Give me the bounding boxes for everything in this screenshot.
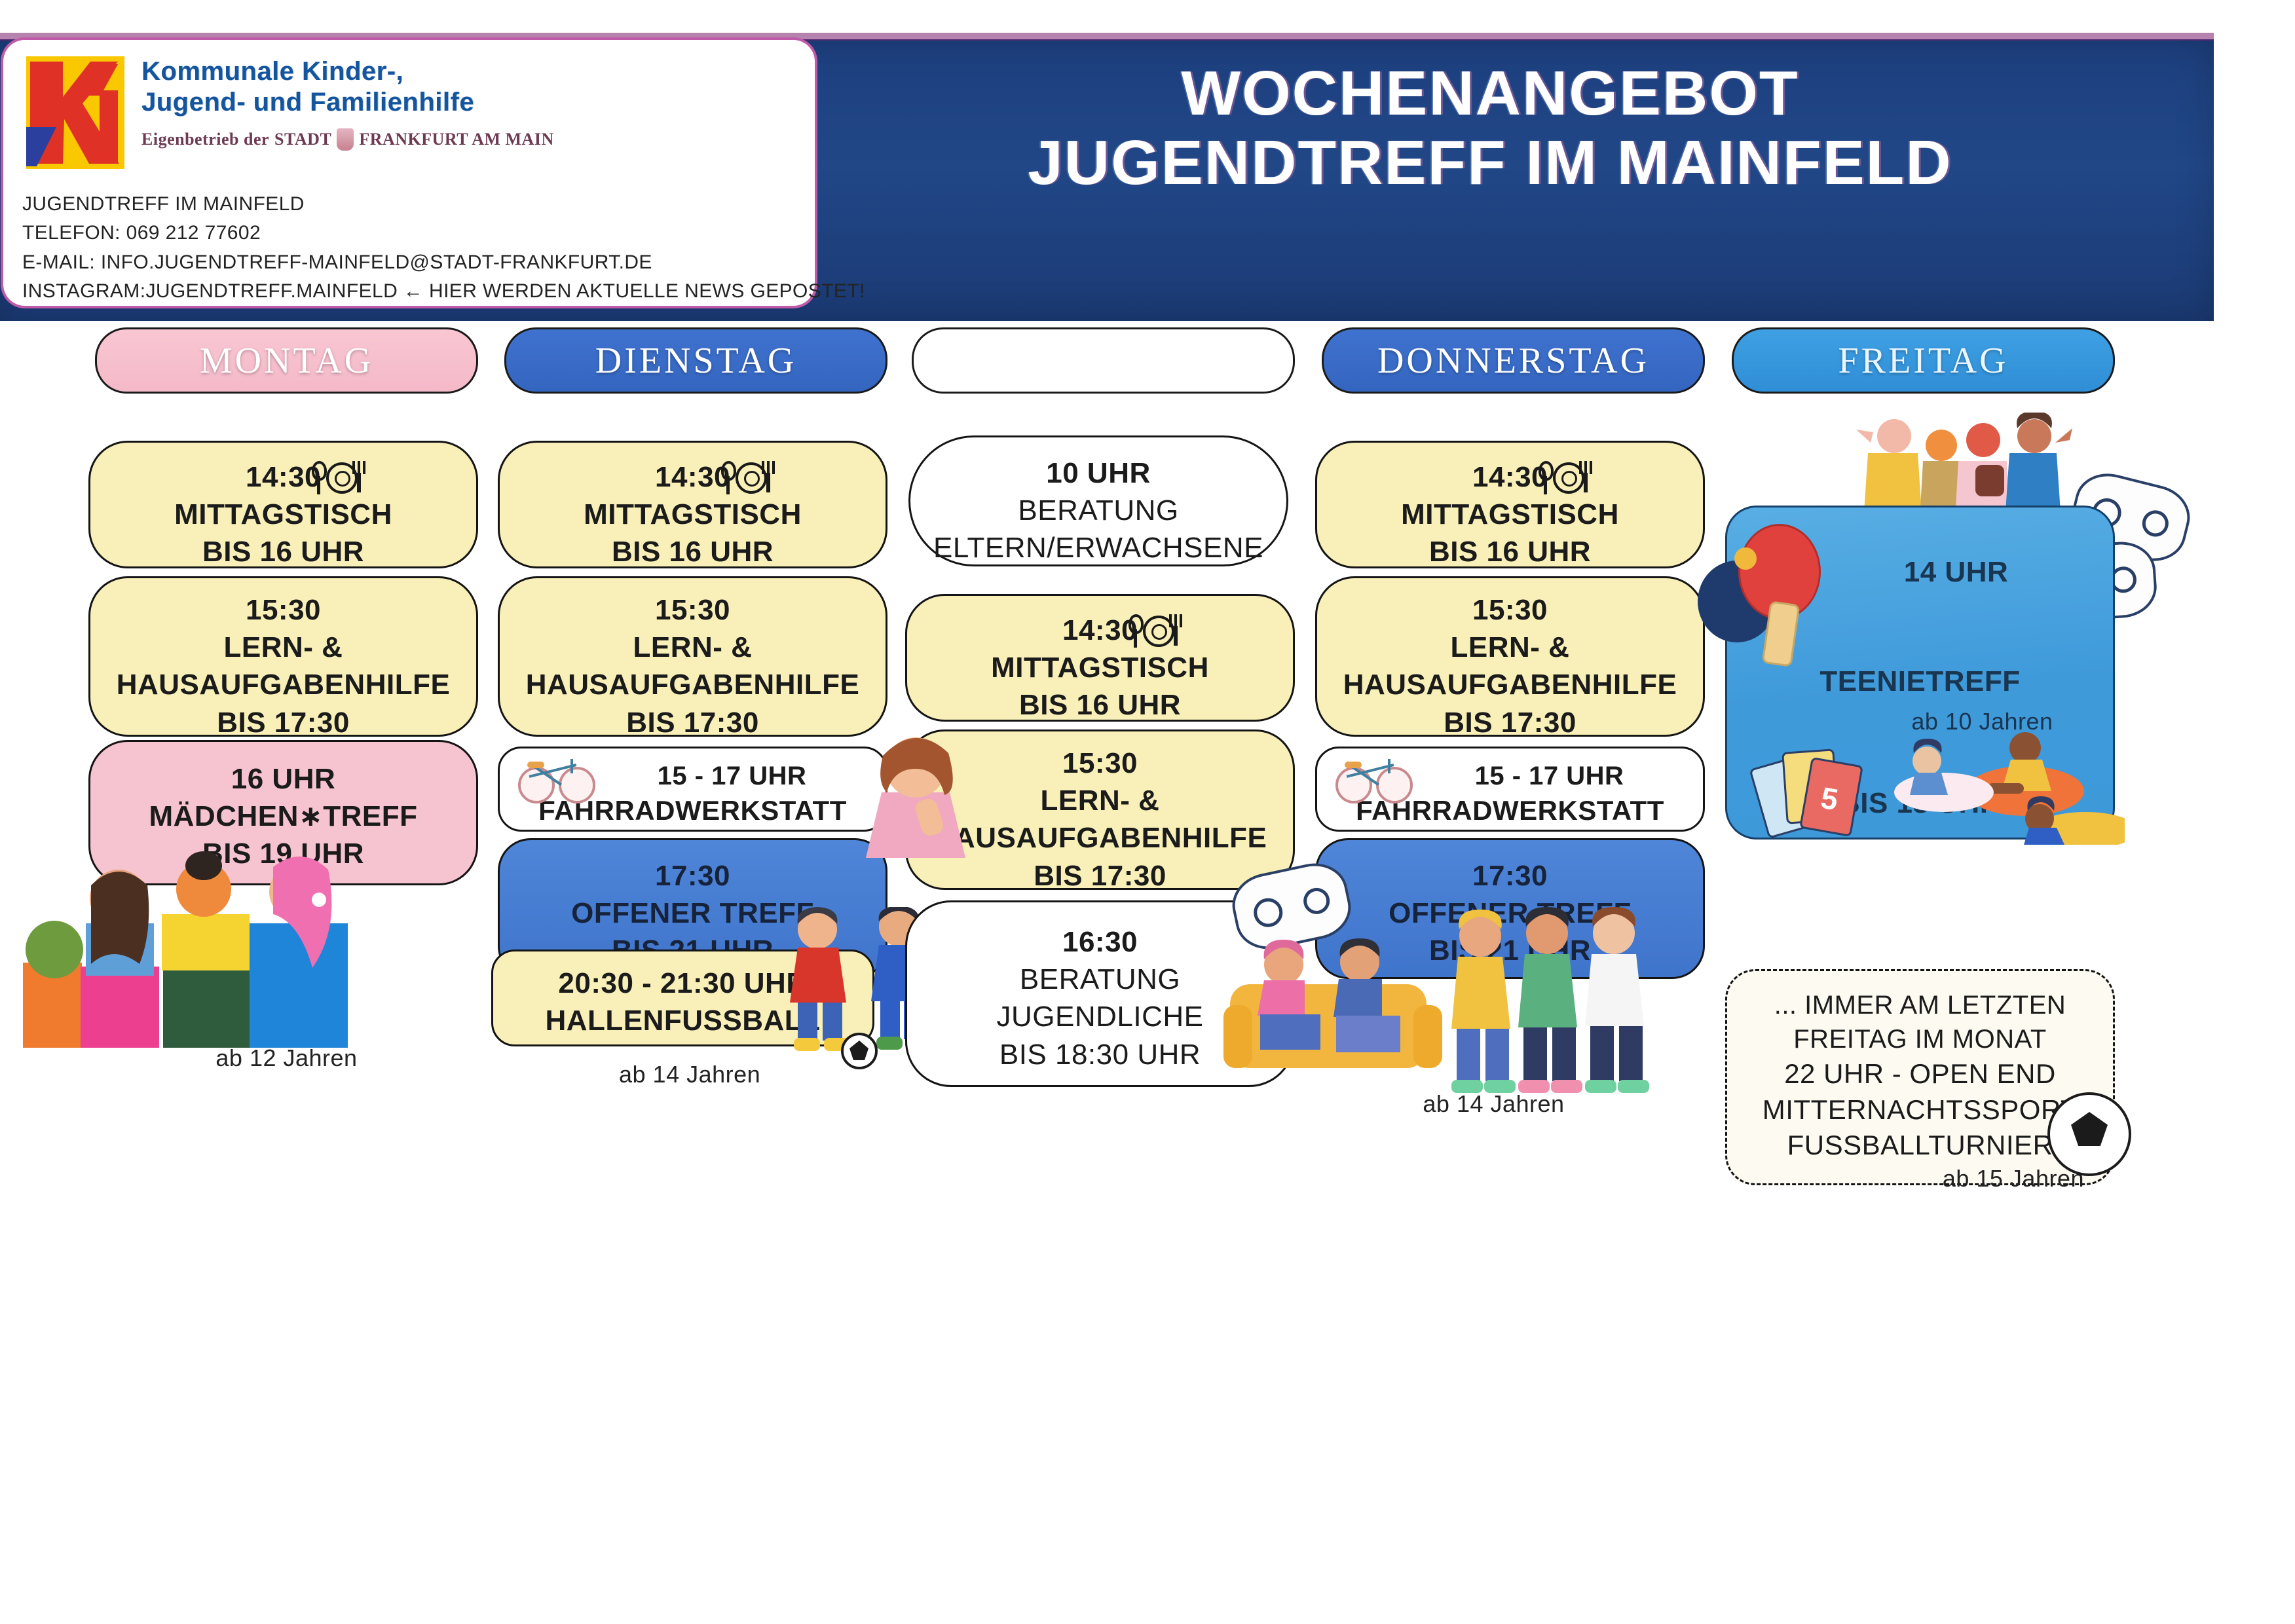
card-title: LERN- &	[512, 629, 874, 666]
card-endtime: BIS 17:30	[919, 857, 1281, 895]
day-column-freitag: FREITAG	[1732, 327, 2115, 394]
card-dienstag-lernhilfe[interactable]: 15:30 LERN- & HAUSAUFGABENHILFE BIS 17:3…	[498, 576, 887, 737]
card-endtime: BIS 17:30	[1329, 704, 1691, 741]
card-time: 15:30	[1329, 591, 1691, 629]
age-note-offenertreff: ab 14 Jahren	[1302, 1090, 1685, 1118]
card-time: 16:30	[919, 923, 1281, 961]
card-donnerstag-offenertreff[interactable]: 17:30 OFFENER TREFF BIS 21 UHR	[1315, 838, 1705, 979]
frankfurt-crest-icon	[337, 128, 354, 151]
card-dienstag-mittagstisch[interactable]: 14:30 MITTAGSTISCH BIS 16 UHR	[498, 441, 887, 568]
kjf-logo-icon	[26, 56, 124, 169]
card-endtime: BIS 17:30	[102, 704, 464, 741]
card-title: MÄDCHEN∗TREFF	[102, 798, 464, 835]
card-time: 15 - 17 UHR	[1408, 759, 1691, 793]
card-dienstag-fahrradwerkstatt[interactable]: 15 - 17 UHR FAHRRADWERKSTATT	[498, 747, 887, 832]
card-dienstag-hallenfussball[interactable]: 20:30 - 21:30 UHR HALLENFUSSBALL	[491, 950, 874, 1046]
card-time: 20:30 - 21:30 UHR	[505, 965, 861, 1002]
card-montag-lernhilfe[interactable]: 15:30 LERN- & HAUSAUFGABENHILFE BIS 17:3…	[88, 576, 478, 737]
card-title: LERN- &	[919, 782, 1281, 819]
card-title: MITTAGSTISCH	[512, 496, 874, 533]
organization-contact-card: Kommunale Kinder-, Jugend- und Familienh…	[8, 45, 810, 301]
age-note-maedchentreff: ab 12 Jahren	[95, 1044, 478, 1072]
card-donnerstag-fahrradwerkstatt[interactable]: 15 - 17 UHR FAHRRADWERKSTATT	[1315, 747, 1705, 832]
card-time: 15 - 17 UHR	[590, 759, 874, 793]
organization-name: Kommunale Kinder-, Jugend- und Familienh…	[141, 56, 554, 151]
page-title: WOCHENANGEBOT JUGENDTREFF IM MAINFELD	[802, 59, 2178, 197]
cutlery-icon	[1533, 461, 1596, 504]
cutlery-icon	[1123, 614, 1186, 657]
card-title: BERATUNG	[922, 492, 1275, 529]
card-title: MITTERNACHTSSPORT	[1739, 1092, 2101, 1128]
card-endtime: BIS 18:30 UHR	[919, 1036, 1281, 1073]
card-title: LERN- &	[1329, 629, 1691, 666]
age-note-mitternachtssport: ab 15 Jahren	[1739, 1165, 2101, 1192]
card-title: MITTAGSTISCH	[1329, 496, 1691, 533]
page-title-line2: JUGENDTREFF IM MAINFELD	[802, 128, 2178, 198]
org-subtitle: Eigenbetrieb der STADT FRANKFURT AM MAIN	[141, 128, 554, 151]
contact-venue: JUGENDTREFF IM MAINFELD	[22, 190, 801, 219]
bicycle-icon	[1335, 758, 1414, 800]
card-mittwoch-lernhilfe[interactable]: 15:30 LERN- & HAUSAUFGABENHILFE BIS 17:3…	[905, 729, 1295, 890]
card-title: LERN- &	[102, 629, 464, 666]
card-time: 10 UHR	[922, 454, 1275, 492]
org-subtitle-pre: Eigenbetrieb der	[141, 130, 269, 149]
day-header-dienstag[interactable]: DIENSTAG	[504, 327, 887, 394]
card-endtime: BIS 16 UHR	[102, 533, 464, 570]
card-time: 15:30	[919, 745, 1281, 782]
card-time: 14:30	[1329, 458, 1691, 496]
day-header-montag[interactable]: MONTAG	[95, 327, 478, 394]
org-name-line1: Kommunale Kinder-,	[141, 56, 554, 87]
card-donnerstag-mittagstisch[interactable]: 14:30 MITTAGSTISCH BIS 16 UHR	[1315, 441, 1705, 568]
card-title: MITTAGSTISCH	[102, 496, 464, 533]
contact-details: JUGENDTREFF IM MAINFELD TELEFON: 069 212…	[22, 190, 801, 306]
contact-phone: TELEFON: 069 212 77602	[22, 219, 801, 248]
org-name-line2: Jugend- und Familienhilfe	[141, 87, 554, 118]
card-target: ELTERN/ERWACHSENE	[922, 529, 1275, 566]
cutlery-icon	[716, 461, 779, 504]
bicycle-icon	[518, 758, 597, 800]
card-endtime: BIS 17:30	[512, 704, 874, 741]
day-column-donnerstag: DONNERSTAG 14:30 MITTAGSTISCH BIS 16 UHR…	[1322, 327, 1705, 394]
card-time: 22 UHR - OPEN END	[1739, 1056, 2101, 1092]
card-time: 17:30	[512, 857, 874, 895]
card-note-1: ... IMMER AM LETZTEN	[1739, 988, 2101, 1022]
card-title: OFFENER TREFF	[1329, 895, 1691, 932]
card-donnerstag-lernhilfe[interactable]: 15:30 LERN- & HAUSAUFGABENHILFE BIS 17:3…	[1315, 576, 1705, 737]
card-title-2: HAUSAUFGABENHILFE	[512, 666, 874, 703]
cutlery-icon	[307, 461, 369, 504]
card-mittwoch-mittagstisch[interactable]: 14:30 MITTAGSTISCH BIS 16 UHR	[905, 594, 1295, 722]
card-endtime: BIS 16 UHR	[919, 686, 1281, 724]
week-schedule-grid: MONTAG 14:30 MITTAGSTISCH BIS 16 UHR 15:…	[0, 327, 2295, 1624]
card-time: 17:30	[1329, 857, 1691, 895]
card-endtime: BIS 19 UHR	[102, 835, 464, 872]
card-note-2: FREITAG IM MONAT	[1739, 1022, 2101, 1056]
soccer-ball-icon	[2047, 1092, 2131, 1176]
org-subtitle-post: FRANKFURT AM MAIN	[359, 130, 553, 149]
logo-row: Kommunale Kinder-, Jugend- und Familienh…	[26, 56, 554, 169]
card-title: MITTAGSTISCH	[919, 649, 1281, 686]
card-target: JUGENDLICHE	[919, 998, 1281, 1035]
card-title-2: HAUSAUFGABENHILFE	[1329, 666, 1691, 703]
org-subtitle-city: STADT	[274, 130, 331, 149]
day-column-montag: MONTAG 14:30 MITTAGSTISCH BIS 16 UHR 15:…	[95, 327, 478, 394]
playing-cards-icon	[1758, 747, 1876, 845]
card-title: HALLENFUSSBALL	[505, 1002, 861, 1039]
card-title: OFFENER TREFF	[512, 895, 874, 932]
contact-email: E-MAIL: INFO.JUGENDTREFF-MAINFELD@STADT-…	[22, 248, 801, 277]
card-time: 14:30	[102, 458, 464, 496]
card-montag-maedchentreff[interactable]: 16 UHR MÄDCHEN∗TREFF BIS 19 UHR	[88, 740, 478, 885]
day-column-dienstag: DIENSTAG 14:30 MITTAGSTISCH BIS 16 UHR 1…	[504, 327, 887, 394]
day-header-mittwoch[interactable]	[912, 327, 1295, 394]
card-time: 16 UHR	[102, 760, 464, 798]
card-title-2: HAUSAUFGABENHILFE	[102, 666, 464, 703]
page-title-line1: WOCHENANGEBOT	[1181, 58, 1799, 128]
day-column-mittwoch: 10 UHR BERATUNG ELTERN/ERWACHSENE 14:30 …	[912, 327, 1295, 394]
card-title: BERATUNG	[919, 961, 1281, 998]
age-note-teenietreff: ab 10 Jahren	[1863, 708, 2101, 735]
card-time: 15:30	[512, 591, 874, 629]
card-montag-mittagstisch[interactable]: 14:30 MITTAGSTISCH BIS 16 UHR	[88, 441, 478, 568]
card-mittwoch-beratung-eltern[interactable]: 10 UHR BERATUNG ELTERN/ERWACHSENE	[908, 435, 1288, 566]
day-header-freitag[interactable]: FREITAG	[1732, 327, 2115, 394]
card-endtime: BIS 16 UHR	[512, 533, 874, 570]
card-endtime: BIS 21 UHR	[1329, 932, 1691, 969]
card-title-2: HAUSAUFGABENHILFE	[919, 819, 1281, 857]
contact-instagram: INSTAGRAM:JUGENDTREFF.MAINFELD ← HIER WE…	[22, 277, 801, 306]
day-header-donnerstag[interactable]: DONNERSTAG	[1322, 327, 1705, 394]
card-time: 14:30	[919, 612, 1281, 649]
card-time: 15:30	[102, 591, 464, 629]
age-note-hallenfussball: ab 14 Jahren	[619, 1061, 760, 1088]
card-endtime: BIS 16 UHR	[1329, 533, 1691, 570]
card-time: 14:30	[512, 458, 874, 496]
ping-pong-paddle-icon	[1738, 524, 1869, 674]
